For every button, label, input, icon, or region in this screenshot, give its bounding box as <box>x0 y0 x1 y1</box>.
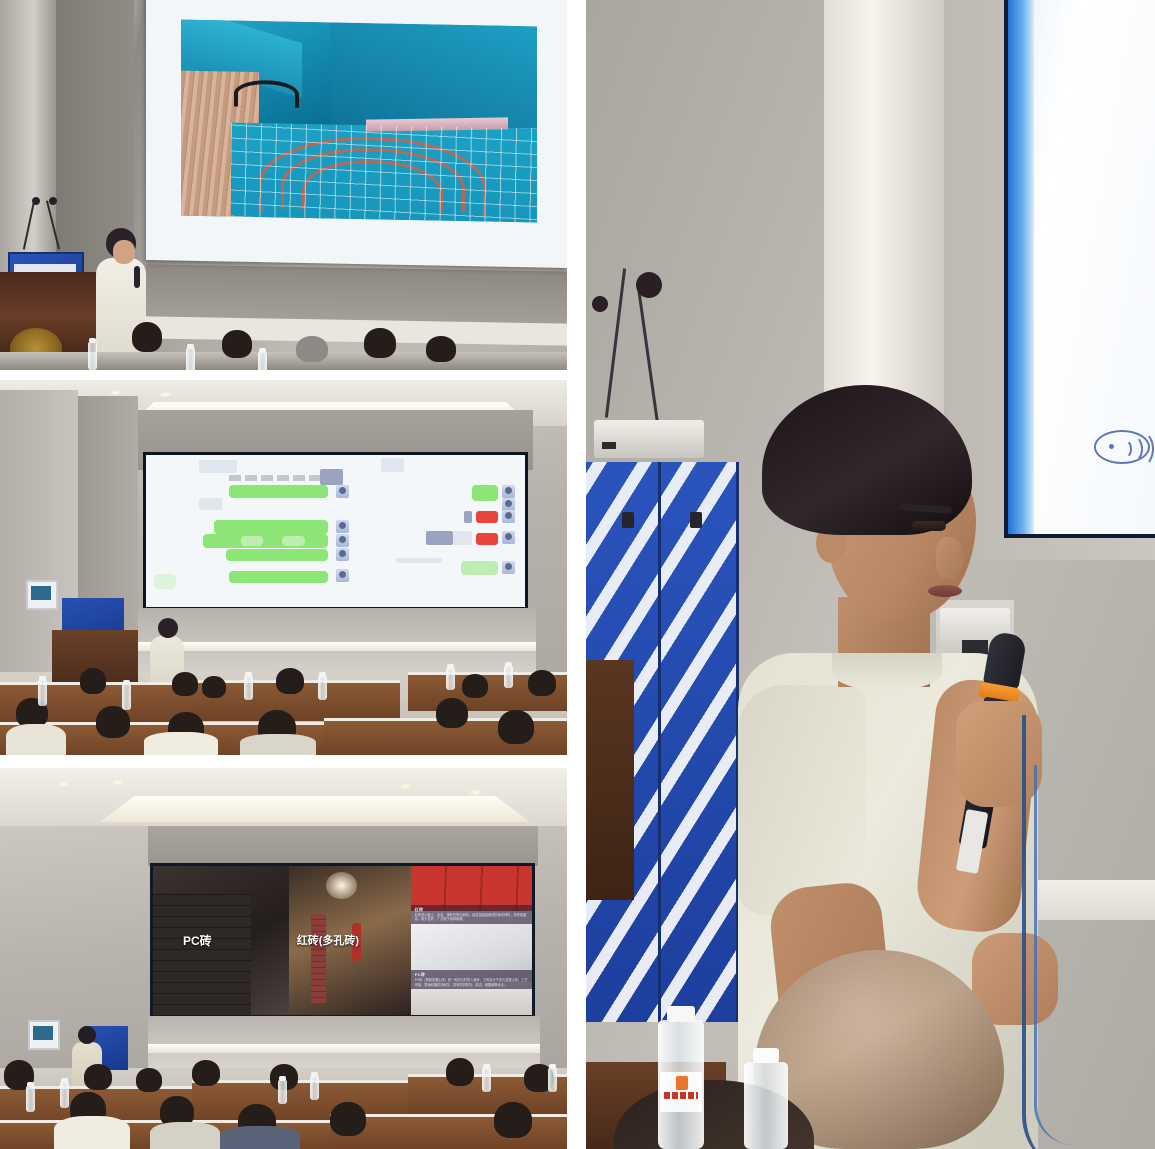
slide-text-body: 红砖是以黏土、页岩、煤矸石等为原料，经高温焙烧而成的砖块材料，具有强度高、耐久性… <box>415 913 528 922</box>
microphone-head <box>636 272 662 298</box>
audience-body <box>54 1116 130 1149</box>
audio-mixer-unit <box>594 420 704 458</box>
photo-panel-brick-slide: PC砖 红砖(多孔砖) 红砖 红砖是以黏土、页岩、煤矸石等为原料，经高温焙烧而成… <box>0 768 567 1149</box>
chat-avatar <box>336 485 349 498</box>
presenter-face <box>113 240 135 264</box>
ceiling-downlight <box>160 392 171 397</box>
audience-head <box>192 1060 220 1086</box>
water-bottle <box>60 1082 69 1108</box>
wooden-lectern <box>586 660 634 900</box>
slide-image-red-brick: 红砖(多孔砖) <box>289 866 410 1015</box>
speaker-collar <box>832 653 942 691</box>
water-bottle <box>744 1062 788 1149</box>
photo-panel-projector-slide <box>0 0 567 370</box>
chat-bubble-outgoing <box>472 485 499 500</box>
photo-collage: PC砖 红砖(多孔砖) 红砖 红砖是以黏土、页岩、煤矸石等为原料，经高温焙烧而成… <box>0 0 1155 1149</box>
chat-bubble-outgoing <box>226 549 328 561</box>
water-bottle <box>88 342 97 370</box>
audience-head <box>462 674 488 698</box>
audience-head <box>436 698 468 728</box>
slide-floor-heating-photo <box>181 20 537 223</box>
handheld-microphone <box>134 266 140 288</box>
chat-red-packet <box>476 533 499 545</box>
audience-head <box>494 1102 532 1138</box>
chat-grey-block <box>464 511 472 523</box>
ceiling-downlight <box>110 390 121 395</box>
ceiling-downlight <box>470 790 481 795</box>
chat-bubble-outgoing <box>154 574 177 589</box>
chat-bubble-outgoing <box>214 520 328 534</box>
speaker-mouth <box>928 585 962 597</box>
bottle-cap <box>753 1048 779 1063</box>
chat-grey-block <box>426 531 453 545</box>
chat-avatar <box>502 531 515 544</box>
chat-red-packet <box>476 511 499 523</box>
chat-bubble-outgoing <box>461 561 499 575</box>
water-bottle <box>548 1068 557 1092</box>
bottle-cap <box>667 1006 695 1022</box>
microphone-head <box>49 197 57 205</box>
chat-grey-block <box>320 469 343 486</box>
chat-faint-block <box>381 458 404 472</box>
locker-handle <box>622 512 634 528</box>
slide-image-pc-brick: PC砖 <box>153 866 289 1015</box>
speaker-nose <box>936 537 964 579</box>
audience-head <box>296 336 328 362</box>
water-bottle <box>26 1086 35 1112</box>
ceiling-downlight <box>112 780 123 785</box>
wall-control-panel <box>26 580 58 610</box>
chat-header-text <box>229 475 328 481</box>
slide-label-pc-brick: PC砖 <box>183 932 212 949</box>
front-desk-row <box>0 352 567 370</box>
audience-head <box>222 330 252 358</box>
speaker-sleeve <box>738 685 866 915</box>
led-video-wall <box>143 452 528 610</box>
chat-avatar <box>336 569 349 582</box>
slide-text-block-pc-brick: PC砖 PC砖（预制混凝土砖）是一种仿石材的人造砖，又称高分子多孔混凝土砖，工艺… <box>411 970 532 989</box>
audience-head <box>84 1064 112 1090</box>
audience-body <box>144 732 218 755</box>
chat-avatar <box>502 510 515 523</box>
water-bottle <box>244 676 253 700</box>
chat-faint-block <box>199 498 222 510</box>
water-bottle <box>186 348 195 370</box>
audience-head <box>96 706 130 738</box>
photo-panel-wechat-screen <box>0 380 567 755</box>
bottle-label <box>660 1072 702 1112</box>
microphone-cable <box>1034 765 1095 1145</box>
ceiling-downlight <box>400 784 411 789</box>
stage-edge-light <box>148 1044 540 1053</box>
chat-bubble-outgoing <box>229 485 328 497</box>
audience-head <box>364 328 396 358</box>
water-bottle <box>122 684 131 710</box>
chat-faint-block <box>453 531 472 545</box>
chat-faint-block <box>396 558 441 563</box>
audience-body <box>240 734 316 755</box>
audience-head <box>528 670 556 696</box>
water-bottle <box>318 676 327 700</box>
chat-bubble-outgoing <box>229 571 328 583</box>
slide-image-spec-panel: 红砖 红砖是以黏土、页岩、煤矸石等为原料，经高温焙烧而成的砖块材料，具有强度高、… <box>411 866 532 1015</box>
ceiling-cove-light <box>100 796 530 822</box>
wall-control-panel <box>28 1020 60 1050</box>
microphone-head <box>32 197 40 205</box>
chat-avatar <box>336 548 349 561</box>
slide-rebar-mesh <box>231 122 537 222</box>
audience-head <box>330 1102 366 1136</box>
chat-bubble-outgoing <box>203 534 328 548</box>
audience-head <box>446 1058 474 1086</box>
water-bottle <box>278 1080 287 1104</box>
water-bottle <box>258 352 267 370</box>
water-bottle <box>658 1020 704 1149</box>
audience-head <box>498 710 534 744</box>
audience-head <box>426 336 456 362</box>
water-bottle <box>482 1068 491 1092</box>
water-bottle <box>504 666 513 688</box>
chat-avatar <box>336 520 349 533</box>
wall-panel-bank <box>148 826 538 866</box>
bottle-label-text <box>664 1092 698 1099</box>
slide-text-body: PC砖（预制混凝土砖）是一种仿石材的人造砖，又称高分子多孔混凝土砖，工艺环保，表… <box>415 978 528 987</box>
slide-text-block-red-brick: 红砖 红砖是以黏土、页岩、煤矸石等为原料，经高温焙烧而成的砖块材料，具有强度高、… <box>411 905 532 924</box>
projection-screen <box>146 0 567 268</box>
audience-head <box>136 1068 162 1092</box>
ceiling-downlight <box>58 782 69 787</box>
audience-body <box>220 1126 300 1149</box>
chat-faint-block <box>199 460 237 474</box>
chat-avatar <box>502 485 515 498</box>
water-bottle <box>38 680 47 706</box>
chat-bubble-highlight <box>282 536 305 547</box>
wechat-chat-screenshot <box>146 455 525 607</box>
audience-head <box>80 668 106 694</box>
audience-head <box>132 322 162 352</box>
led-video-wall: PC砖 红砖(多孔砖) 红砖 红砖是以黏土、页岩、煤矸石等为原料，经高温焙烧而成… <box>150 863 535 1018</box>
audience-body <box>6 724 66 755</box>
microphone-head <box>592 296 608 312</box>
sound-broadcast-icon <box>1094 430 1150 464</box>
chat-avatar <box>336 534 349 547</box>
audience-body <box>150 1122 220 1149</box>
water-bottle <box>446 668 455 690</box>
bottle-logo <box>676 1076 688 1090</box>
chat-bubble-highlight <box>241 536 264 547</box>
slide-label-red-brick: 红砖(多孔砖) <box>297 932 359 948</box>
audience-head <box>276 668 304 694</box>
speaker-eye <box>912 521 946 531</box>
photo-panel-speaker-portrait <box>586 0 1155 1149</box>
chat-avatar <box>502 498 515 511</box>
stage-edge-light <box>138 642 536 651</box>
locker-handle <box>690 512 702 528</box>
audience-head <box>202 676 226 698</box>
chat-avatar <box>502 561 515 574</box>
audience-head <box>172 672 198 696</box>
brick-comparison-slide: PC砖 红砖(多孔砖) 红砖 红砖是以黏土、页岩、煤矸石等为原料，经高温焙烧而成… <box>153 866 532 1015</box>
water-bottle <box>310 1076 319 1100</box>
